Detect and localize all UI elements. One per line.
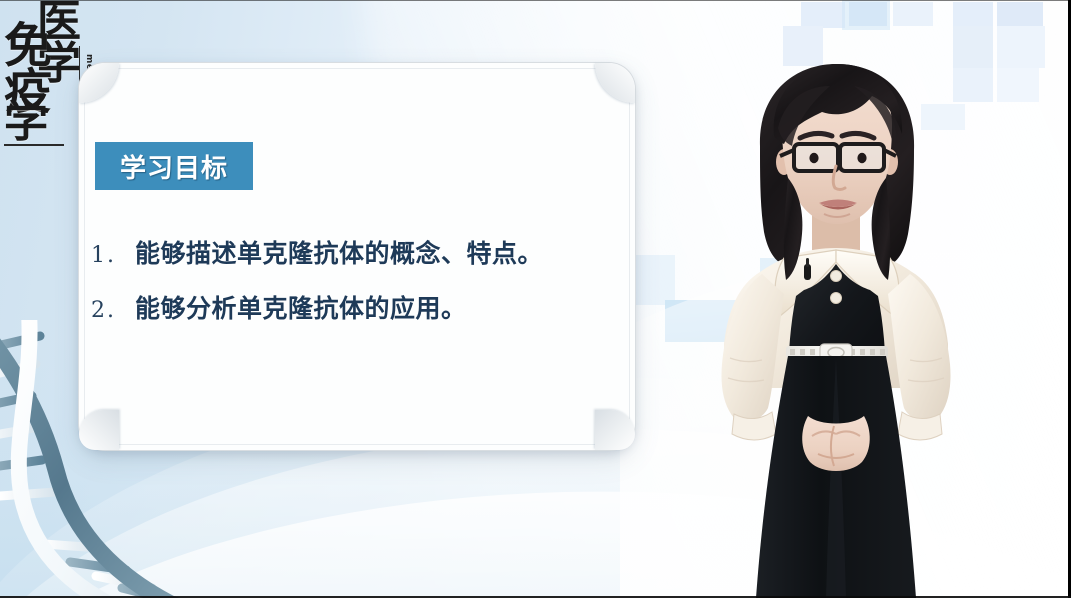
list-item: 1. 能够描述单克隆抗体的概念、特点。 bbox=[89, 238, 617, 269]
background-block bbox=[842, 0, 890, 30]
section-title: 学习目标 bbox=[120, 148, 228, 185]
list-item-text: 能够描述单克隆抗体的概念、特点。 bbox=[135, 238, 543, 269]
content-card: 学习目标 1. 能够描述单克隆抗体的概念、特点。 2. 能够分析单克隆抗体的应用… bbox=[79, 63, 635, 450]
section-title-badge: 学习目标 bbox=[95, 142, 253, 190]
list-item-number: 2. bbox=[89, 298, 135, 323]
list-item-text: 能够分析单克隆抗体的应用。 bbox=[135, 293, 467, 324]
learning-goals-list: 1. 能够描述单克隆抗体的概念、特点。 2. 能够分析单克隆抗体的应用。 bbox=[89, 238, 617, 349]
list-item-number: 1. bbox=[89, 243, 135, 268]
logo-char-xue-2: 学 bbox=[4, 102, 48, 142]
presenter-figure bbox=[700, 58, 1020, 598]
clasped-hands bbox=[802, 416, 870, 471]
slide-canvas: 医 学 免 疫 学 medical immunology 学习目标 1. 能够描… bbox=[0, 0, 1071, 598]
list-item: 2. 能够分析单克隆抗体的应用。 bbox=[89, 293, 617, 324]
logo-char-mian: 免 bbox=[4, 24, 52, 68]
frame-edge-top bbox=[0, 0, 1071, 1]
logo-divider-horizontal bbox=[4, 144, 64, 146]
